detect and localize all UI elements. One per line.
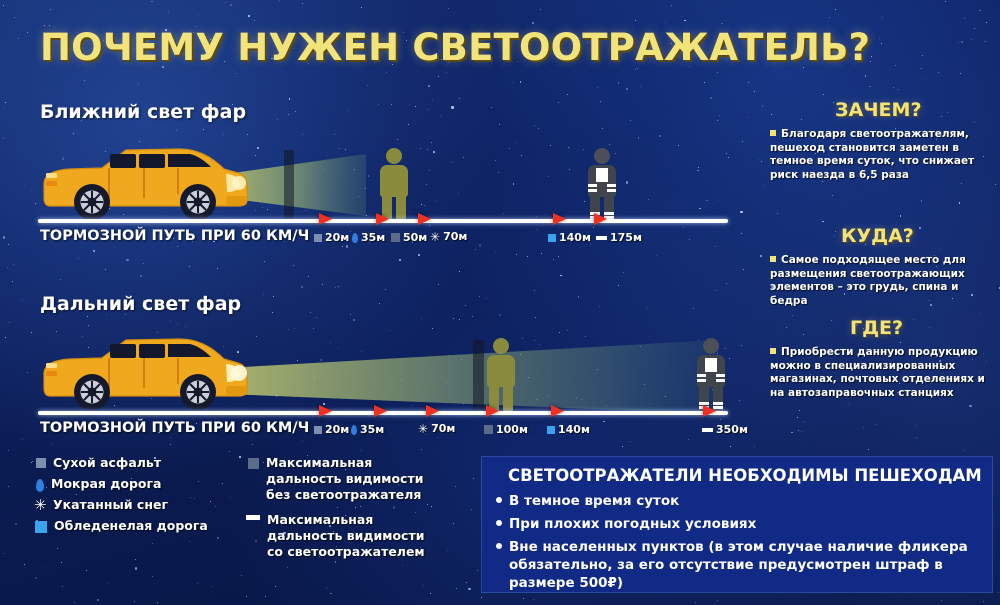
distance-arrow <box>374 405 387 417</box>
legend-item-packed-snow: ✳ Укатанный снег <box>34 497 234 513</box>
bullet-dot-icon <box>496 543 502 549</box>
pedestrian-without-reflector-high <box>485 338 517 411</box>
legend-item-icy-road: Обледенелая дорога <box>35 518 250 534</box>
dry-asphalt-swatch-icon <box>314 426 322 434</box>
bullet-icon <box>770 130 776 136</box>
panel-item-3: Вне населенных пунктов (в этом случае на… <box>496 538 987 592</box>
distance-arrow <box>426 405 439 417</box>
distance-marker-350m-high: 350м <box>702 423 748 436</box>
chart-high-beam-heading: Дальний свет фар <box>40 293 241 315</box>
legend-item-wet-road: Мокрая дорога <box>36 476 236 492</box>
panel-item-1: В темное время суток <box>496 492 966 510</box>
distance-marker-70m-high: ✳ 70м <box>418 422 455 435</box>
icy-road-swatch-icon <box>35 521 47 533</box>
distance-arrow <box>319 405 332 417</box>
section-heading-why: ЗАЧЕМ? <box>835 99 921 121</box>
no-reflector-swatch-icon <box>248 458 259 469</box>
wet-road-drop-icon <box>36 479 44 492</box>
distance-arrow <box>486 405 499 417</box>
section-text-why: Благодаря светоотражателям, пешеход стан… <box>770 128 985 182</box>
chart-high-beam: Дальний свет фар <box>0 190 760 450</box>
distance-arrow <box>703 405 716 417</box>
packed-snow-asterisk-icon: ✳ <box>418 425 428 433</box>
legend-item-dry-asphalt: Сухой асфальт <box>36 455 236 471</box>
bullet-icon <box>770 348 776 354</box>
distance-marker-20m-high: 20м <box>314 423 349 436</box>
brake-distance-label-high: ТОРМОЗНОЙ ПУТЬ ПРИ 60 КМ/Ч <box>40 420 309 436</box>
right-info-column: ЗАЧЕМ? Благодаря светоотражателям, пешех… <box>760 0 1000 460</box>
distance-marker-35m-high: 35м <box>351 423 384 436</box>
chart-low-beam-heading: Ближний свет фар <box>40 101 246 123</box>
panel-item-2: При плохих погодных условиях <box>496 515 966 533</box>
pedestrian-with-reflector-high <box>695 338 727 411</box>
section-heading-where-to-buy: ГДЕ? <box>850 317 903 339</box>
wet-road-drop-icon <box>351 425 357 435</box>
icy-road-swatch-icon <box>547 426 555 434</box>
packed-snow-asterisk-icon: ✳ <box>34 500 46 511</box>
no-reflector-swatch-icon <box>484 425 493 434</box>
high-beam-light-cone <box>226 340 716 422</box>
bullet-dot-icon <box>496 520 502 526</box>
with-reflector-swatch-icon <box>246 515 260 520</box>
distance-arrow <box>551 405 564 417</box>
no-reflector-visibility-band-high <box>473 340 484 414</box>
legend-item-max-visibility-with-reflector: Максимальная дальность видимости со свет… <box>246 512 441 560</box>
bullet-icon <box>770 256 776 262</box>
with-reflector-swatch-icon <box>702 428 713 432</box>
section-text-where-to-buy: Приобрести данную продукцию можно в спец… <box>770 346 998 400</box>
car-illustration-high-beam <box>40 330 250 412</box>
legend-item-max-visibility-no-reflector: Максимальная дальность видимости без све… <box>248 455 438 503</box>
dry-asphalt-swatch-icon <box>36 458 46 468</box>
panel-title: СВЕТООТРАЖАТЕЛИ НЕОБХОДИМЫ ПЕШЕХОДАМ <box>508 466 982 485</box>
infographic-canvas: ПОЧЕМУ НУЖЕН СВЕТООТРАЖАТЕЛЬ? Ближний св… <box>0 0 1000 605</box>
section-heading-where-to-place: КУДА? <box>841 225 914 247</box>
distance-marker-100m-high: 100м <box>484 423 528 436</box>
distance-marker-140m-high: 140м <box>547 423 590 436</box>
bullet-dot-icon <box>496 497 502 503</box>
section-text-where-to-place: Самое подходящее место для размещения св… <box>770 254 995 308</box>
